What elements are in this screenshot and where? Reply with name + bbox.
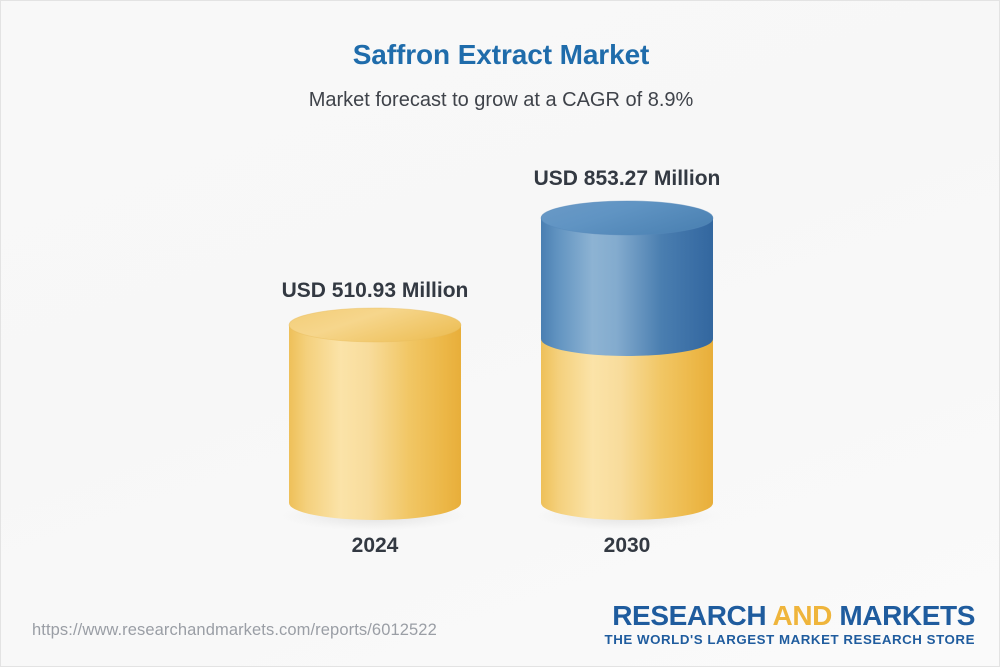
logo-markets-text: MARKETS bbox=[832, 600, 975, 631]
logo-and-text: AND bbox=[773, 600, 832, 631]
bar-2030-blue-body bbox=[541, 218, 713, 356]
x-axis-label-2030: 2030 bbox=[497, 534, 757, 558]
bar-2024-yellow-body bbox=[289, 325, 461, 520]
logo-tagline: THE WORLD'S LARGEST MARKET RESEARCH STOR… bbox=[605, 632, 975, 647]
bar-2030[interactable] bbox=[533, 201, 721, 531]
chart-canvas: Saffron Extract Market Market forecast t… bbox=[0, 0, 1000, 667]
bar-2024-value-label: USD 510.93 Million bbox=[215, 279, 535, 303]
source-url[interactable]: https://www.researchandmarkets.com/repor… bbox=[32, 621, 437, 640]
logo-research-text: RESEARCH bbox=[612, 600, 772, 631]
logo-wordmark: RESEARCH AND MARKETS bbox=[605, 601, 975, 630]
bar-2024[interactable] bbox=[281, 308, 469, 531]
bar-2030-yellow-body bbox=[541, 339, 713, 520]
x-axis-label-2024: 2024 bbox=[245, 534, 505, 558]
bar-2030-value-label: USD 853.27 Million bbox=[467, 167, 787, 191]
research-and-markets-logo[interactable]: RESEARCH AND MARKETS THE WORLD'S LARGEST… bbox=[605, 601, 975, 647]
